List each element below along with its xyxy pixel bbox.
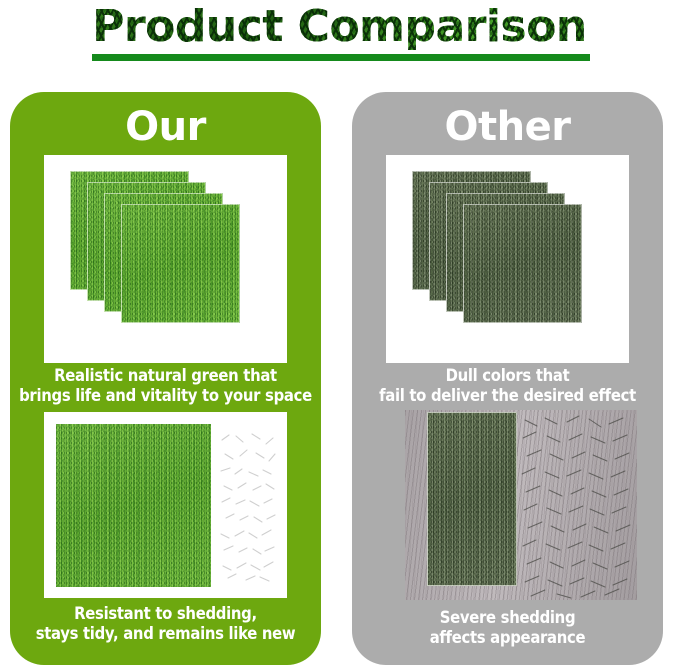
shed-fibers-light <box>216 426 278 586</box>
shed-fibers-heavy <box>517 410 637 600</box>
other-stacked-tiles-image <box>386 155 629 363</box>
tile-stack <box>44 155 287 363</box>
other-caption-bottom: Severe shedding affects appearance <box>358 608 657 648</box>
panel-other: Other Dull colors that fail to deliver t… <box>352 92 663 665</box>
caption-line: Realistic natural green that <box>16 366 315 386</box>
turf-mat <box>427 412 517 586</box>
caption-line: Resistant to shedding, <box>16 604 315 624</box>
page-title: Product Comparison <box>0 2 679 52</box>
title-area: Product Comparison <box>0 0 679 86</box>
tile-stack <box>386 155 629 363</box>
title-underline <box>92 54 590 61</box>
other-shedding-image <box>405 410 637 600</box>
caption-line: affects appearance <box>358 628 657 648</box>
grass-tile <box>463 204 582 323</box>
our-shedding-image <box>44 412 287 598</box>
our-stacked-tiles-image <box>44 155 287 363</box>
other-caption-top: Dull colors that fail to deliver the des… <box>358 366 657 406</box>
our-caption-bottom: Resistant to shedding, stays tidy, and r… <box>16 604 315 644</box>
caption-line: fail to deliver the desired effect <box>358 386 657 406</box>
caption-line: Severe shedding <box>358 608 657 628</box>
caption-line: Dull colors that <box>358 366 657 386</box>
turf-mat <box>56 424 211 587</box>
our-caption-top: Realistic natural green that brings life… <box>16 366 315 406</box>
caption-line: stays tidy, and remains like new <box>16 624 315 644</box>
grass-tile <box>121 204 240 323</box>
panel-other-heading: Other <box>352 104 663 150</box>
panel-our-heading: Our <box>10 104 321 150</box>
panel-our: Our Realistic natural green that brings … <box>10 92 321 665</box>
caption-line: brings life and vitality to your space <box>16 386 315 406</box>
